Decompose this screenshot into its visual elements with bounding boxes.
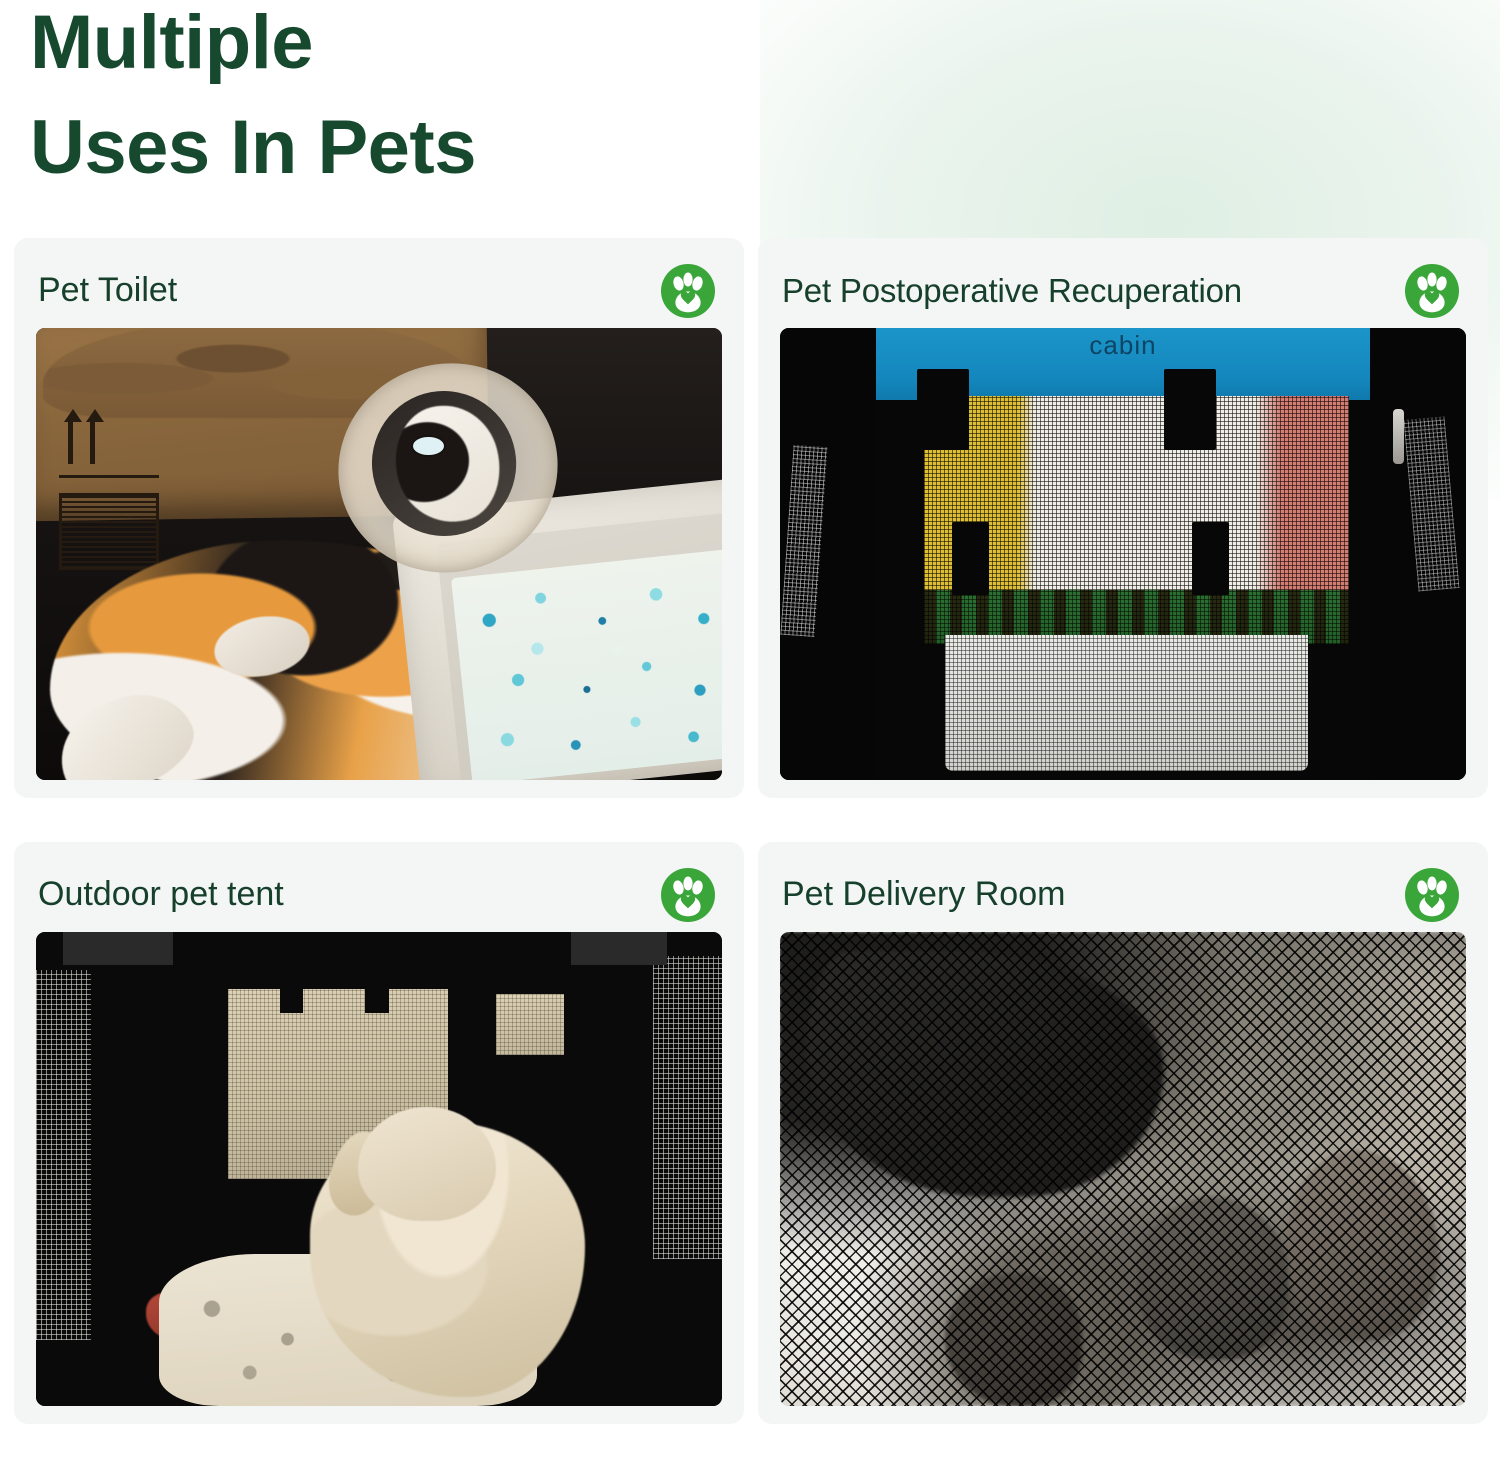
page-root: Multiple Uses In Pets Pet Toilet <box>0 0 1500 1466</box>
use-case-card-pet-toilet[interactable]: Pet Toilet <box>14 238 744 798</box>
page-title: Multiple Uses In Pets <box>8 0 768 186</box>
use-case-card-outdoor-pet-tent[interactable]: Outdoor pet tent <box>14 842 744 1424</box>
card-header: Outdoor pet tent <box>36 858 722 932</box>
card-header: Pet Postoperative Recuperation <box>780 254 1466 328</box>
paw-badge-icon <box>1404 263 1460 319</box>
card-title: Pet Toilet <box>38 272 177 309</box>
use-case-card-grid: Pet Toilet <box>8 238 1492 1424</box>
card-photo-pet-toilet <box>36 328 722 780</box>
paw-badge-icon <box>660 263 716 319</box>
page-title-line-2: Uses In Pets <box>30 109 768 187</box>
zipper-pull-icon <box>1393 409 1405 463</box>
paw-badge-icon <box>1404 867 1460 923</box>
paw-badge-icon <box>660 867 716 923</box>
card-photo-outdoor-pet-tent <box>36 932 722 1406</box>
card-header: Pet Toilet <box>36 254 722 328</box>
card-title: Pet Delivery Room <box>782 876 1065 913</box>
card-header: Pet Delivery Room <box>780 858 1466 932</box>
card-title: Outdoor pet tent <box>38 876 284 913</box>
card-photo-pet-delivery-room <box>780 932 1466 1406</box>
page-title-line-1: Multiple <box>30 4 768 82</box>
use-case-card-pet-postoperative-recuperation[interactable]: Pet Postoperative Recuperation cabin <box>758 238 1488 798</box>
card-title: Pet Postoperative Recuperation <box>782 273 1242 309</box>
card-photo-pet-postoperative-recuperation: cabin <box>780 328 1466 780</box>
use-case-card-pet-delivery-room[interactable]: Pet Delivery Room <box>758 842 1488 1424</box>
